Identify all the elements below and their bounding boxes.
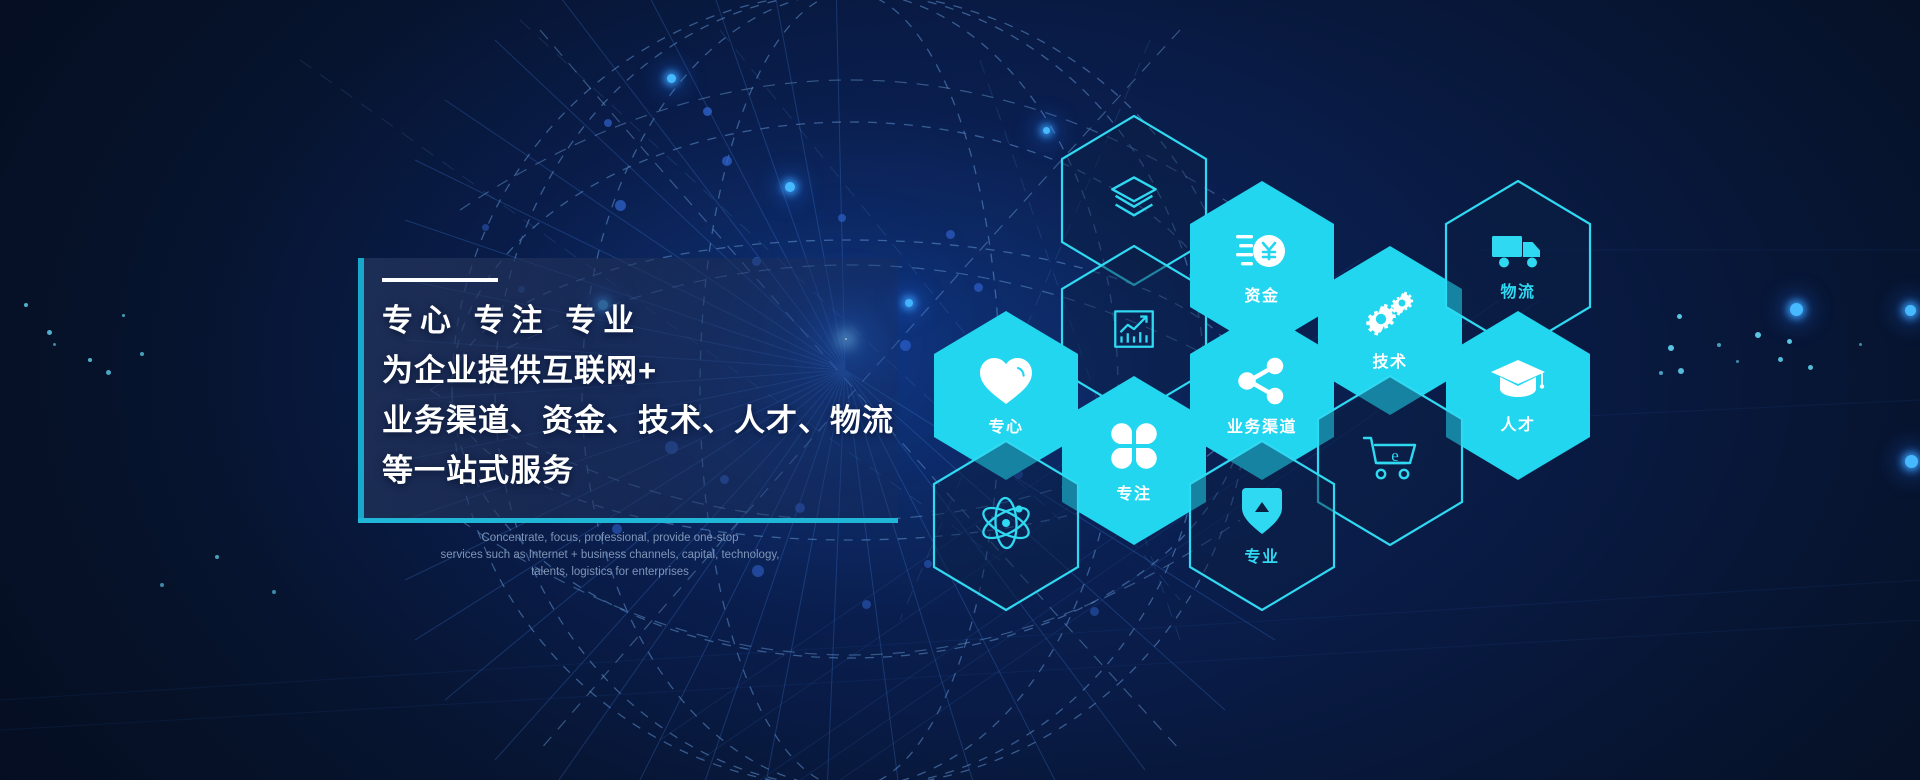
hexagon-pro[interactable]: 专业 [1188, 440, 1336, 611]
subtitle-line-1: Concentrate, focus, professional, provid… [400, 530, 820, 547]
title-rule [382, 278, 498, 282]
gears-icon [1364, 291, 1416, 346]
subtitle-block: Concentrate, focus, professional, provid… [400, 530, 820, 581]
headline-line-4: 等一站式服务 [382, 446, 942, 496]
hexagon-content [978, 496, 1034, 555]
hexagon-content: e [1362, 434, 1418, 487]
hexagon-label: 人才 [1500, 418, 1535, 434]
hexagon-focus[interactable]: 专注 [1060, 375, 1208, 546]
truck-icon [1491, 231, 1545, 276]
cart-e-icon: e [1362, 434, 1418, 487]
hero-banner: 专心 专注 专业 为企业提供互联网+ 业务渠道、资金、技术、人才、物流 等一站式… [0, 0, 1920, 780]
svg-text:e: e [1391, 446, 1399, 465]
hexagon-content: 物流 [1491, 231, 1545, 301]
hexagon-grid: 资金 技术 物流 专心 业务渠道 人才 专注 e 专业 [0, 0, 1920, 780]
headline-line-2: 为企业提供互联网+ [382, 346, 942, 396]
hexagon-content: 人才 [1490, 358, 1546, 434]
hexagon-ecommerce[interactable]: e [1316, 375, 1464, 546]
hexagon-label: 业务渠道 [1227, 420, 1297, 436]
hexagon-content: 资金 [1236, 227, 1288, 305]
layers-icon [1108, 172, 1160, 229]
hexagon-content: 专心 [978, 356, 1034, 436]
subtitle-line-3: talents, logistics for enterprises [400, 564, 820, 581]
hexagon-label: 专心 [988, 420, 1023, 436]
heart-icon [978, 356, 1034, 411]
hexagon-label: 专业 [1244, 550, 1279, 566]
atom-icon [978, 496, 1034, 555]
hexagon-content: 业务渠道 [1227, 356, 1297, 436]
hexagon-content: 专业 [1239, 486, 1285, 566]
share-nodes-icon [1236, 356, 1288, 411]
graduation-cap-icon [1490, 358, 1546, 409]
headline-line-3: 业务渠道、资金、技术、人才、物流 [382, 396, 942, 446]
hexagon-label: 资金 [1244, 289, 1279, 305]
hexagon-content: 专注 [1107, 419, 1161, 503]
subtitle-line-2: services such as Internet + business cha… [400, 547, 820, 564]
hexagon-talents[interactable]: 人才 [1444, 310, 1592, 481]
headline-block: 专心 专注 专业 为企业提供互联网+ 业务渠道、资金、技术、人才、物流 等一站式… [382, 278, 942, 496]
hexagon-content [1108, 172, 1160, 229]
hexagon-label: 技术 [1372, 355, 1407, 371]
headline-line-1: 专心 专注 专业 [382, 296, 942, 346]
clover-icon [1107, 419, 1161, 478]
hexagon-label: 专注 [1116, 487, 1151, 503]
hexagon-content [1109, 303, 1159, 358]
diamond-icon [1239, 486, 1285, 541]
chart-growth-icon [1109, 303, 1159, 358]
yen-coin-icon [1236, 227, 1288, 280]
hexagon-content: 技术 [1364, 291, 1416, 371]
hexagon-label: 物流 [1500, 285, 1535, 301]
hexagon-atom[interactable] [932, 440, 1080, 611]
